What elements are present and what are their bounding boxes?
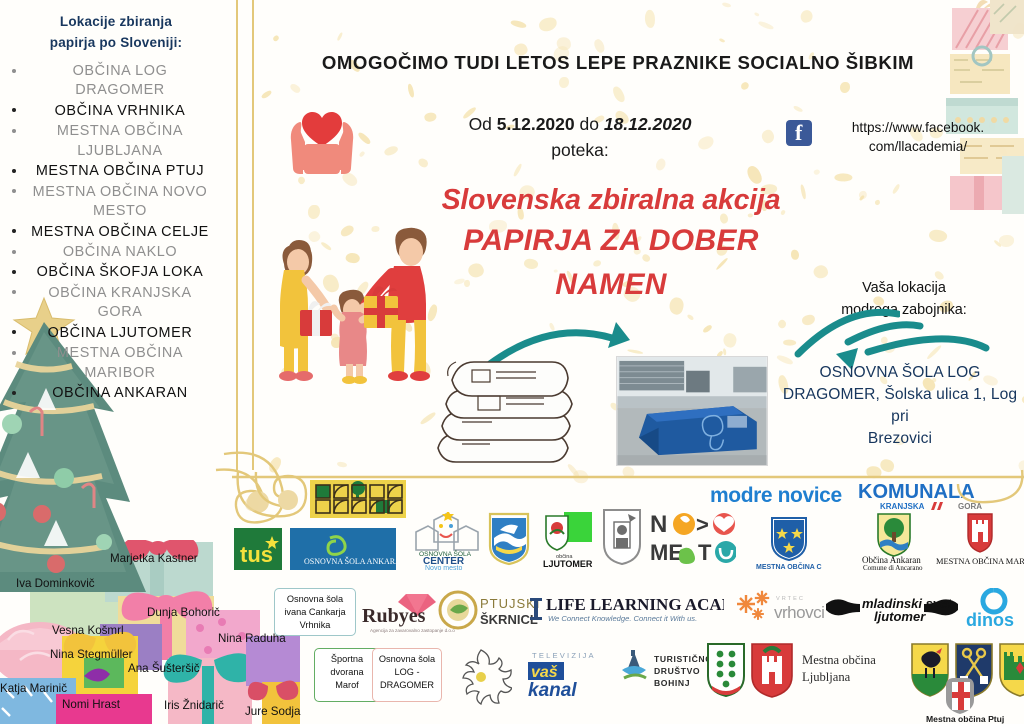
sidebar-item-11: OBČINA ANKARAN <box>0 384 232 403</box>
mestna-obcina-ptuj-logo: Mestna občina Ptuj <box>924 678 1024 724</box>
marof-line1: Športna <box>318 653 376 666</box>
confetti-dot <box>879 336 889 346</box>
confetti-dot <box>549 322 556 331</box>
blue-paper-container-photo <box>616 356 768 466</box>
mol-line2: Ljubljana <box>802 669 912 686</box>
mestna-obcina-celje-logo: MESTNA OBČINA CELJE <box>756 516 822 572</box>
sidebar-title-line2: papirja po Sloveniji: <box>10 33 222 54</box>
confetti-dot <box>289 82 302 93</box>
confetti-dot <box>272 35 279 42</box>
sidebar-item-label: OBČINA ŠKOFJA LOKA <box>37 264 204 280</box>
location-address-line2: DRAGOMER, Šolska ulica 1, Log <box>776 384 1024 406</box>
svg-text:vrhovci: vrhovci <box>774 603 824 622</box>
date-suffix: poteka: <box>420 137 740 163</box>
svg-text:KOMUNALA: KOMUNALA <box>858 481 975 503</box>
donor-name-8: Nomi Hrast <box>62 698 120 711</box>
sidebar-item-label: OBČINA KRANJSKA GORA <box>48 285 191 320</box>
confetti-dot <box>999 235 1015 247</box>
vrtec-vrhovci-logo: VRTEC vrhovci <box>732 588 824 628</box>
confetti-dot <box>723 347 727 355</box>
confetti-dot <box>879 458 896 474</box>
life-learning-academia-logo: LIFE LEARNING ACADEMIA We Connect Knowle… <box>528 592 724 626</box>
mestna-obcina-ljubljana-crest <box>750 642 794 700</box>
confetti-dot <box>926 345 942 361</box>
location-address-line4: Brezovici <box>776 428 1024 450</box>
os-logdragomer-line2: LOG - <box>376 666 438 679</box>
svg-text:GORA: GORA <box>958 502 982 511</box>
confetti-dot <box>777 318 788 329</box>
confetti-dot <box>611 85 627 105</box>
svg-text:TURISTIČNO: TURISTIČNO <box>654 653 712 664</box>
mol-line1: Mestna občina <box>802 652 912 669</box>
location-heading: Vaša lokacija modrega zabojnika: <box>790 278 1018 321</box>
bullet-icon <box>12 391 16 395</box>
svg-text:LJUTOMER: LJUTOMER <box>543 559 593 569</box>
sidebar-item-0: OBČINA LOG DRAGOMER <box>0 62 232 101</box>
svg-text:T: T <box>698 540 712 565</box>
campaign-title-line3: NAMEN <box>376 263 846 307</box>
confetti-dot <box>407 83 415 97</box>
modre-novice-logo: modre novice <box>710 484 850 510</box>
sidebar-item-label: OBČINA LJUTOMER <box>48 325 193 341</box>
confetti-dot <box>813 169 821 176</box>
confetti-dot <box>538 16 558 33</box>
facebook-url-line1: https://www.facebook. <box>820 118 1016 137</box>
campaign-title: Slovenska zbiralna akcija PAPIRJA ZA DOB… <box>376 182 846 307</box>
confetti-dot <box>993 239 1002 247</box>
confetti-dot <box>758 20 775 31</box>
location-heading-line2: modrega zabojnika: <box>790 300 1018 322</box>
obcina-log-dragomer-crest <box>488 512 530 566</box>
svg-text:We Connect Knowledge. Connect: We Connect Knowledge. Connect it With us… <box>548 614 697 623</box>
svg-text:Mestna občina Ptuj: Mestna občina Ptuj <box>926 714 1004 724</box>
obcina-log-dragomer-logo <box>310 480 406 518</box>
sidebar-item-7: OBČINA ŠKOFJA LOKA <box>0 263 232 282</box>
bullet-icon <box>12 351 16 355</box>
confetti-dot <box>686 314 694 322</box>
svg-text:BOHINJ: BOHINJ <box>654 678 690 688</box>
confetti-dot <box>740 81 750 91</box>
confetti-dot <box>558 77 569 89</box>
sidebar-item-label: MESTNA OBČINA NOVO MESTO <box>33 184 208 219</box>
svg-text:MESTNA OBČINA MARIBOR: MESTNA OBČINA MARIBOR <box>936 556 1024 566</box>
sidebar-item-8: OBČINA KRANJSKA GORA <box>0 284 232 323</box>
facebook-icon[interactable]: f <box>786 120 812 146</box>
donor-name-2: Dunja Bohorič <box>147 606 220 619</box>
campaign-title-line2: PAPIRJA ZA DOBER <box>376 218 846 263</box>
bullet-icon <box>12 229 16 233</box>
confetti-dot <box>358 151 365 158</box>
donor-name-6: Ana Šušteršič <box>128 662 200 675</box>
svg-text:dinos: dinos <box>966 610 1014 630</box>
marof-line2: dvorana <box>318 666 376 679</box>
svg-text:VRTEC: VRTEC <box>776 596 805 602</box>
svg-text:KRANJSKA: KRANJSKA <box>880 502 925 511</box>
bullet-icon <box>12 270 16 274</box>
os-logdragomer-line3: DRAGOMER <box>376 679 438 692</box>
svg-text:N: N <box>650 511 667 538</box>
marof-line3: Marof <box>318 679 376 692</box>
campaign-dates: Od 5.12.2020 do 18.12.2020 poteka: <box>420 112 740 164</box>
campaign-title-line1: Slovenska zbiralna akcija <box>376 182 846 218</box>
confetti-dot <box>722 332 738 349</box>
confetti-dot <box>556 36 571 51</box>
turisticno-drustvo-bohinj-logo: TURISTIČNO DRUŠTVO BOHINJ <box>620 648 712 698</box>
donor-name-9: Iris Žnidarič <box>164 699 224 712</box>
bullet-icon <box>12 108 16 112</box>
confetti-dot <box>833 172 852 181</box>
bullet-icon <box>12 250 16 254</box>
location-address-line3: pri <box>776 406 1024 428</box>
sidebar-item-label: MESTNA OBČINA MARIBOR <box>57 345 183 380</box>
svg-text:OSNOVNA ŠOLA ANKARAN: OSNOVNA ŠOLA ANKARAN <box>304 557 396 566</box>
svg-text:MESTNA OBČINA CELJE: MESTNA OBČINA CELJE <box>756 562 822 571</box>
facebook-url-line2: com/llacademia/ <box>820 137 1016 156</box>
gold-divider-right <box>252 0 254 470</box>
confetti-dot <box>337 461 347 468</box>
facebook-url[interactable]: https://www.facebook. com/llacademia/ <box>820 118 1016 156</box>
sidebar-item-1: OBČINA VRHNIKA <box>0 102 232 121</box>
confetti-dot <box>793 104 804 113</box>
sidebar-item-10: MESTNA OBČINA MARIBOR <box>0 344 232 383</box>
confetti-dot <box>1016 458 1024 476</box>
svg-text:Rubyes: Rubyes <box>362 605 426 627</box>
poster-root: Lokacije zbiranja papirja po Sloveniji: … <box>0 0 1024 724</box>
donor-name-0: Marjetka Kastner <box>110 552 198 565</box>
gold-divider-left <box>236 0 238 470</box>
date-prefix: Od <box>469 114 497 134</box>
confetti-dot <box>840 82 850 93</box>
donor-name-10: Jure Sodja <box>245 705 300 718</box>
mestna-obcina-maribor-logo: MESTNA OBČINA MARIBOR <box>936 512 1024 570</box>
donor-name-5: Nina Stegmüller <box>50 648 132 661</box>
confetti-dot <box>800 9 814 24</box>
confetti-dot <box>927 228 948 244</box>
sidebar-item-label: MESTNA OBČINA LJUBLJANA <box>57 123 183 158</box>
svg-text:>: > <box>696 512 709 537</box>
obcina-crest-green <box>706 642 746 700</box>
donor-names-overlay: Marjetka KastnerIva DominkovičDunja Boho… <box>0 540 310 724</box>
bullet-icon <box>12 129 16 133</box>
confetti-dot <box>627 349 644 355</box>
confetti-dot <box>356 131 371 146</box>
dinos-logo: dinos <box>964 588 1024 630</box>
svg-text:Comune di Ancarano: Comune di Ancarano <box>863 564 923 570</box>
svg-text:DRUŠTVO: DRUŠTVO <box>654 665 700 676</box>
bullet-icon <box>12 189 16 193</box>
sidebar-item-label: OBČINA ANKARAN <box>52 385 188 401</box>
location-heading-line1: Vaša lokacija <box>790 278 1018 300</box>
sidebar-item-3: MESTNA OBČINA PTUJ <box>0 162 232 181</box>
date-middle: do <box>575 114 604 134</box>
confetti-dot <box>513 162 523 176</box>
bullet-icon <box>12 290 16 294</box>
sidebar-item-label: OBČINA LOG DRAGOMER <box>73 63 168 98</box>
confetti-dot <box>297 176 307 186</box>
sidebar-item-6: OBČINA NAKLO <box>0 243 232 262</box>
bullet-icon <box>12 69 16 73</box>
sidebar-item-5: MESTNA OBČINA CELJE <box>0 223 232 242</box>
donor-name-1: Iva Dominkovič <box>16 577 95 590</box>
svg-text:LIFE LEARNING ACADEMIA: LIFE LEARNING ACADEMIA <box>546 595 724 614</box>
confetti-dot <box>719 38 726 44</box>
mestna-obcina-ljubljana-label: Mestna občina Ljubljana <box>802 652 912 686</box>
os-logdragomer-line1: Osnovna šola <box>376 653 438 666</box>
confetti-dot <box>511 19 528 30</box>
svg-text:ME: ME <box>650 540 683 565</box>
confetti-dot <box>721 2 731 9</box>
confetti-dot <box>760 128 777 145</box>
sidebar-item-9: OBČINA LJUTOMER <box>0 324 232 343</box>
sidebar-title: Lokacije zbiranja papirja po Sloveniji: <box>10 12 222 54</box>
confetti-dot <box>266 456 283 475</box>
date-from: 5.12.2020 <box>497 114 575 134</box>
date-to: 18.12.2020 <box>604 114 692 134</box>
confetti-dot <box>753 12 759 17</box>
confetti-dot <box>383 144 399 157</box>
svg-text:ljutomer: ljutomer <box>874 609 926 624</box>
bullet-icon <box>12 169 16 173</box>
novo-mesto-logo: N > ME T <box>650 508 736 566</box>
location-address-line1: OSNOVNA ŠOLA LOG <box>776 362 1024 384</box>
sidebar-item-label: OBČINA NAKLO <box>63 244 177 260</box>
sidebar-item-label: OBČINA VRHNIKA <box>55 103 186 119</box>
donor-name-4: Nina Raduha <box>218 632 286 645</box>
sidebar-item-2: MESTNA OBČINA LJUBLJANA <box>0 122 232 161</box>
svg-text:vaš: vaš <box>531 664 558 681</box>
confetti-dot <box>261 89 273 99</box>
heart-in-hands-icon <box>286 98 358 176</box>
komunala-kranjska-gora-logo: KOMUNALA KRANJSKA GORA <box>858 480 988 512</box>
flower-hands-logo <box>450 646 512 706</box>
confetti-dot <box>884 343 896 354</box>
mladinski-svet-ljutomer-logo: mladinski svet ljutomer <box>824 590 960 626</box>
sidebar-item-label: MESTNA OBČINA PTUJ <box>36 163 204 179</box>
vas-kanal-logo: TELEVIZIJA vaš kanal <box>528 646 612 700</box>
confetti-dot <box>702 324 713 334</box>
osnovna-sola-center-novo-mesto-logo: OSNOVNA ŠOLA CENTER Novo mesto <box>412 512 480 570</box>
confetti-dot <box>645 10 655 28</box>
svg-text:Novo mesto: Novo mesto <box>425 565 462 570</box>
svg-text:TELEVIZIJA: TELEVIZIJA <box>532 651 596 660</box>
collection-locations-list: OBČINA LOG DRAGOMEROBČINA VRHNIKAMESTNA … <box>0 62 232 404</box>
confetti-dot <box>783 339 797 345</box>
confetti-dot <box>336 32 343 42</box>
newspaper-stack-illustration <box>432 352 582 470</box>
sidebar-item-4: MESTNA OBČINA NOVO MESTO <box>0 183 232 222</box>
gift-boxes-illustration <box>864 0 1024 230</box>
sidebar-item-label: MESTNA OBČINA CELJE <box>31 224 209 240</box>
obcina-ljutomer-logo: občina LJUTOMER <box>538 512 596 570</box>
obcina-crest-grey <box>602 508 642 566</box>
donor-name-7: Katja Marinič <box>0 682 67 695</box>
donor-name-3: Vesna Košmrl <box>52 624 124 637</box>
obcina-ankaran-logo: Občina Ankaran Comune di Ancarano <box>858 512 930 570</box>
sportna-dvorana-marof-box: Športna dvorana Marof <box>314 648 380 702</box>
bullet-icon <box>12 330 16 334</box>
osnovna-sola-log-dragomer-box: Osnovna šola LOG - DRAGOMER <box>372 648 442 702</box>
sidebar-title-line1: Lokacije zbiranja <box>10 12 222 33</box>
svg-text:kanal: kanal <box>528 680 577 700</box>
sponsor-logos: tus OSNOVNA ŠOLA ANKARAN OSNOVNA ŠOLA CE… <box>232 476 1024 724</box>
location-address: OSNOVNA ŠOLA LOG DRAGOMER, Šolska ulica … <box>776 362 1024 451</box>
page-title: OMOGOČIMO TUDI LETOS LEPE PRAZNIKE SOCIA… <box>258 52 978 74</box>
